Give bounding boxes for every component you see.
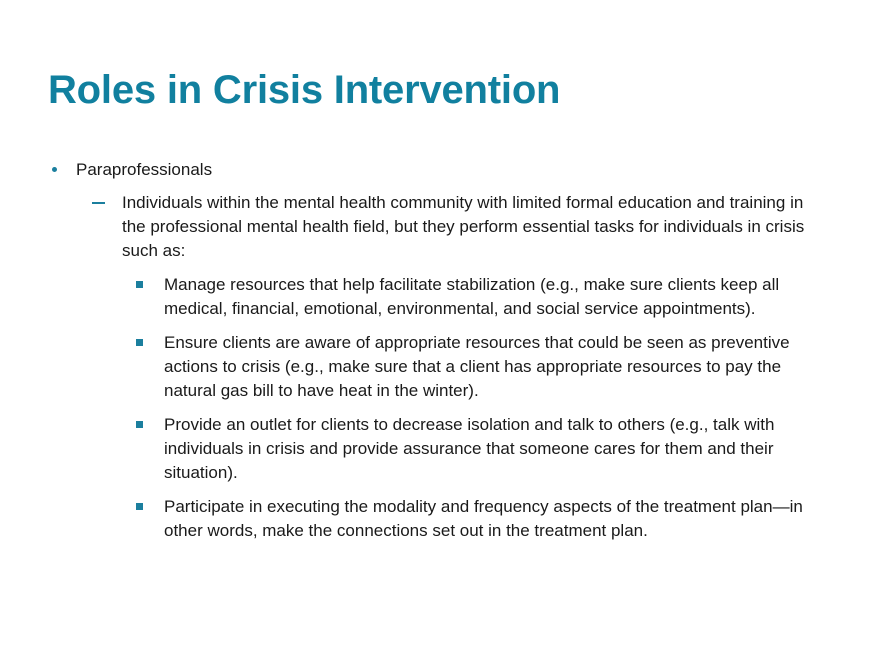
bullet-level1: Paraprofessionals [0,157,880,183]
slide-title: Roles in Crisis Intervention [48,66,848,114]
bullet-level3-item: Ensure clients are aware of appropriate … [0,331,880,403]
bullet-level3-item: Provide an outlet for clients to decreas… [0,413,880,485]
bullet-level3-label: Manage resources that help facilitate st… [164,273,816,321]
bullet-level3-label: Participate in executing the modality an… [164,495,816,543]
square-bullet-icon [136,273,164,288]
bullet-level2-label: Individuals within the mental health com… [122,191,814,263]
bullet-level3-item: Participate in executing the modality an… [0,495,880,543]
dash-bullet-icon [92,191,122,217]
bullet-level3-group: Manage resources that help facilitate st… [0,273,880,543]
square-bullet-icon [136,413,164,428]
bullet-level3-item: Manage resources that help facilitate st… [0,273,880,321]
dot-bullet-icon [48,157,76,183]
bullet-level1-label: Paraprofessionals [76,157,816,183]
slide-body: Paraprofessionals Individuals within the… [0,157,880,553]
square-bullet-icon [136,495,164,510]
bullet-level2: Individuals within the mental health com… [0,191,880,263]
bullet-level3-label: Provide an outlet for clients to decreas… [164,413,816,485]
bullet-level3-label: Ensure clients are aware of appropriate … [164,331,816,403]
square-bullet-icon [136,331,164,346]
presentation-slide: Roles in Crisis Intervention Paraprofess… [0,0,880,660]
